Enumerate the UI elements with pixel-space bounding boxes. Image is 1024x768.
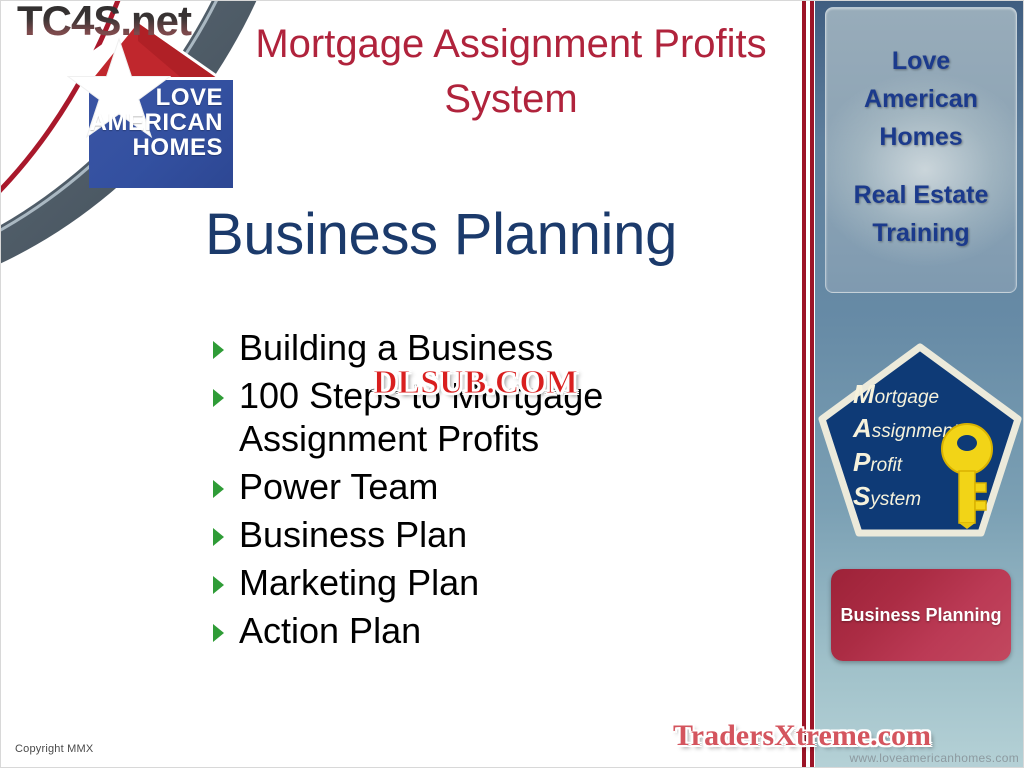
list-item: Power Team: [211, 465, 771, 508]
key-icon: [935, 421, 999, 529]
training-panel: Love American Homes Real Estate Training: [825, 7, 1017, 293]
logo-wordmark: LOVE AMERICAN HOMES: [90, 85, 223, 160]
training-line-love: Love: [826, 42, 1016, 80]
list-item: Action Plan: [211, 609, 771, 652]
dlsub-watermark: DLSUB.COM: [373, 364, 578, 402]
tradersxtreme-watermark: TradersXtreme.com: [673, 719, 931, 753]
training-line-real-estate: Real Estate: [826, 176, 1016, 214]
training-line-american: American: [826, 80, 1016, 118]
triangle-bullet-icon: [211, 527, 225, 545]
list-item: Business Plan: [211, 513, 771, 556]
page-title: Business Planning: [141, 199, 741, 271]
sidebar-item-business-planning[interactable]: Business Planning: [831, 569, 1011, 661]
right-sidebar: Love American Homes Real Estate Training…: [815, 1, 1024, 768]
footer-website-url: www.loveamericanhomes.com: [815, 751, 1024, 765]
triangle-bullet-icon: [211, 575, 225, 593]
triangle-bullet-icon: [211, 340, 225, 358]
triangle-bullet-icon: [211, 623, 225, 641]
sidebar-item-label: Business Planning: [840, 603, 1001, 628]
logo-line-american: AMERICAN: [90, 110, 223, 135]
maps-line-mortgage: Mortgage: [853, 379, 1013, 413]
training-line-homes: Homes: [826, 118, 1016, 156]
copyright-notice: Copyright MMX: [15, 743, 93, 755]
training-line-training: Training: [826, 214, 1016, 252]
list-item-label: Business Plan: [239, 513, 467, 556]
slide-title: Mortgage Assignment Profits System: [251, 17, 771, 127]
divider-line-left: [802, 1, 806, 768]
slide-canvas: LOVE AMERICAN HOMES Mortgage Assignment …: [0, 0, 1024, 768]
maps-logo: Mortgage Assignment Profit System: [817, 343, 1023, 543]
list-item: Building a Business: [211, 326, 771, 369]
triangle-bullet-icon: [211, 479, 225, 497]
logo-line-love: LOVE: [90, 85, 223, 110]
list-item-label: Action Plan: [239, 609, 421, 652]
list-item-label: Marketing Plan: [239, 561, 479, 604]
divider-line-right: [810, 1, 814, 768]
list-item-label: Power Team: [239, 465, 438, 508]
vertical-divider: [801, 1, 815, 768]
list-item: Marketing Plan: [211, 561, 771, 604]
logo-line-homes: HOMES: [90, 135, 223, 160]
tc4s-watermark: TC4S.net: [17, 0, 222, 45]
triangle-bullet-icon: [211, 388, 225, 406]
list-item-label: Building a Business: [239, 326, 553, 369]
